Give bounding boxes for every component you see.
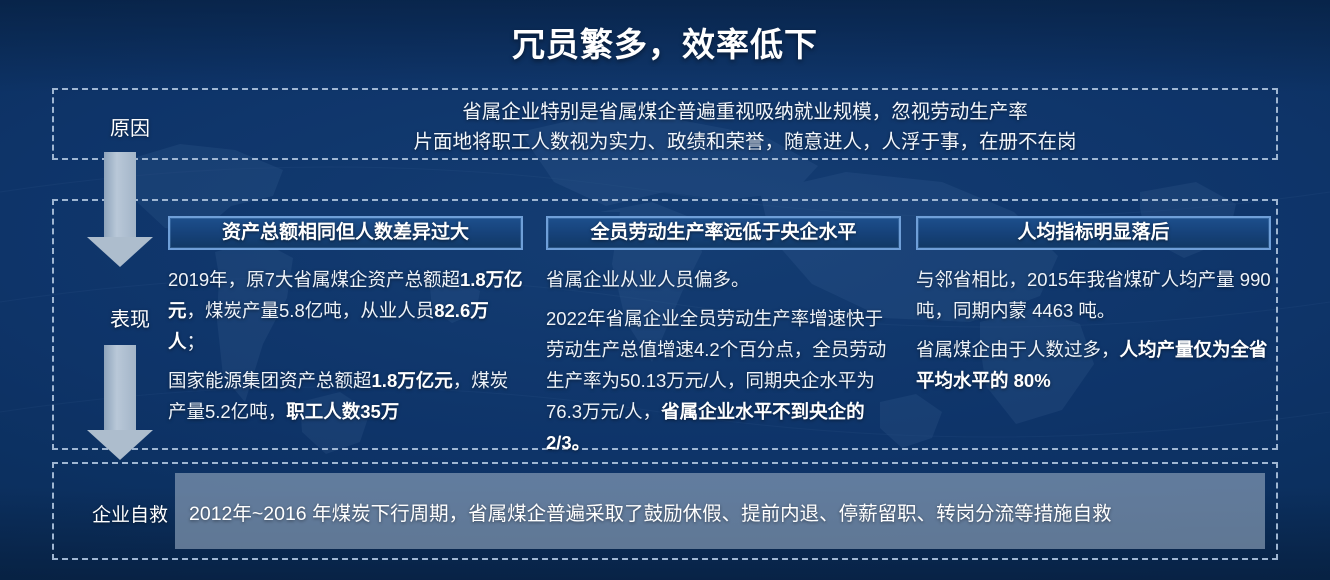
column-1-paragraph-1: 2019年，原7大省属煤企资产总额超1.8万亿元，煤炭产量5.8亿吨，从业人员8… [168, 264, 523, 357]
arrow-head [87, 430, 153, 460]
column-1-paragraph-2: 国家能源集团资产总额超1.8万亿元，煤炭产量5.2亿吨，职工人数35万 [168, 365, 523, 427]
reason-line-2: 片面地将职工人数视为实力、政绩和荣誉，随意进人，人浮于事，在册不在岗 [225, 127, 1265, 157]
column-3-heading: 人均指标明显落后 [916, 216, 1271, 250]
column-3-paragraph-2: 省属煤企由于人数过多，人均产量仅为全省平均水平的 80% [916, 334, 1271, 396]
performance-column-1: 资产总额相同但人数差异过大 2019年，原7大省属煤企资产总额超1.8万亿元，煤… [168, 216, 523, 427]
column-3-paragraph-1: 与邻省相比，2015年我省煤矿人均产量 990吨，同期内蒙 4463 吨。 [916, 264, 1271, 326]
column-2-body: 省属企业从业人员偏多。 2022年省属企业全员劳动生产率增速快于劳动生产总值增速… [546, 264, 901, 458]
reason-line-1: 省属企业特别是省属煤企普遍重视吸纳就业规模，忽视劳动生产率 [225, 97, 1265, 127]
row-label-reason: 原因 [55, 112, 205, 141]
arrow-shaft [104, 152, 136, 238]
arrow-head [87, 237, 153, 267]
page-title: 冗员繁多，效率低下 [0, 18, 1330, 66]
column-3-body: 与邻省相比，2015年我省煤矿人均产量 990吨，同期内蒙 4463 吨。 省属… [916, 264, 1271, 396]
down-arrow-icon [87, 345, 153, 460]
column-1-body: 2019年，原7大省属煤企资产总额超1.8万亿元，煤炭产量5.8亿吨，从业人员8… [168, 264, 523, 427]
rescue-text: 2012年~2016 年煤炭下行周期，省属煤企普遍采取了鼓励休假、提前内退、停薪… [175, 497, 1112, 526]
rescue-highlight-bar: 2012年~2016 年煤炭下行周期，省属煤企普遍采取了鼓励休假、提前内退、停薪… [175, 473, 1265, 549]
column-2-paragraph-1: 省属企业从业人员偏多。 [546, 264, 901, 295]
down-arrow-icon [87, 152, 153, 267]
column-2-paragraph-2: 2022年省属企业全员劳动生产率增速快于劳动生产总值增速4.2个百分点，全员劳动… [546, 303, 901, 458]
column-1-heading: 资产总额相同但人数差异过大 [168, 216, 523, 250]
column-2-heading: 全员劳动生产率远低于央企水平 [546, 216, 901, 250]
performance-column-2: 全员劳动生产率远低于央企水平 省属企业从业人员偏多。 2022年省属企业全员劳动… [546, 216, 901, 458]
reason-text-block: 省属企业特别是省属煤企普遍重视吸纳就业规模，忽视劳动生产率 片面地将职工人数视为… [225, 97, 1265, 157]
arrow-shaft [104, 345, 136, 431]
performance-column-3: 人均指标明显落后 与邻省相比，2015年我省煤矿人均产量 990吨，同期内蒙 4… [916, 216, 1271, 396]
